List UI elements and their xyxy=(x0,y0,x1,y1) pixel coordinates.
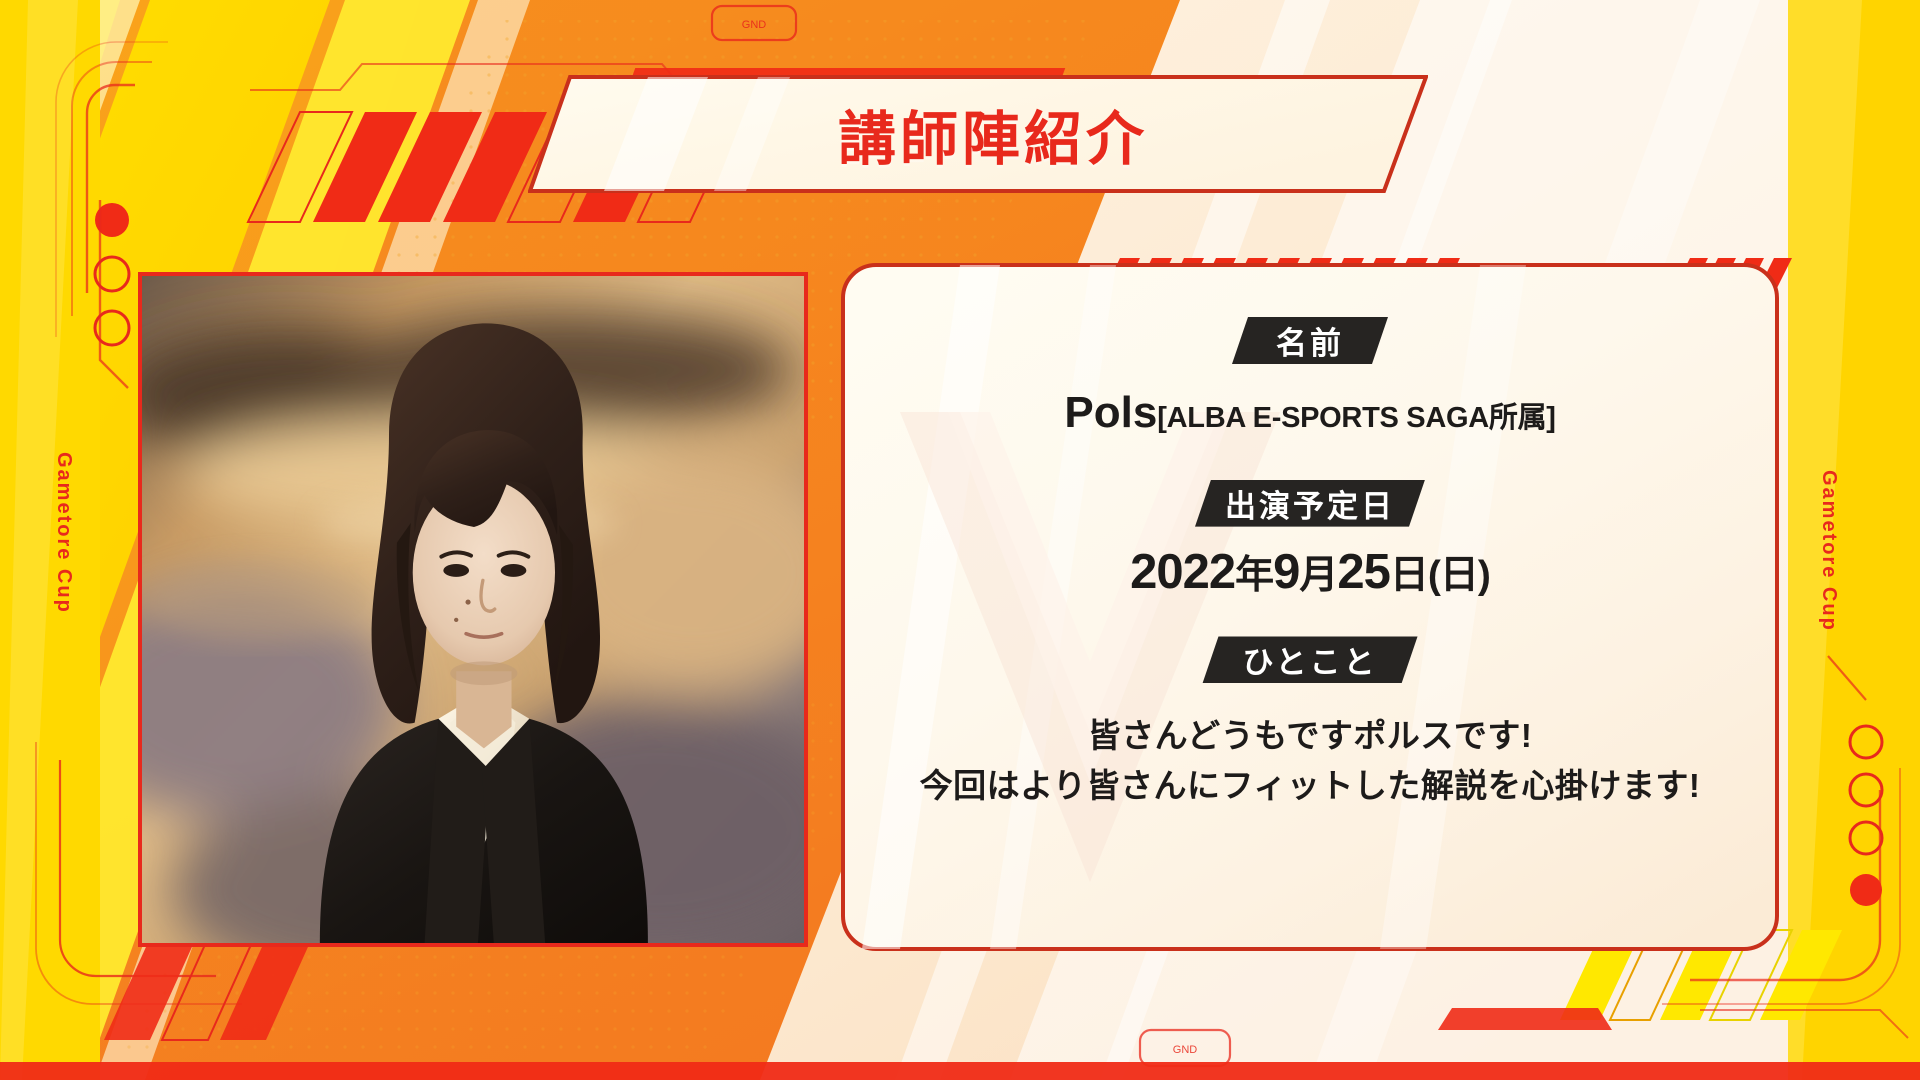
svg-text:GND: GND xyxy=(1173,1044,1198,1056)
date-month: 9 xyxy=(1273,545,1299,599)
name-badge-label: 名前 xyxy=(1276,318,1344,363)
svg-text:GND: GND xyxy=(742,19,767,31)
date-badge: 出演予定日 xyxy=(1195,480,1425,527)
poster-stage: GND GND xyxy=(0,0,1920,1080)
date-day-unit: 日 xyxy=(1390,554,1428,597)
date-year: 2022 xyxy=(1130,545,1235,599)
brand-text-left: Gametore Cup xyxy=(52,452,75,614)
date-value: 2022年9月25日(日) xyxy=(1130,543,1490,603)
date-year-unit: 年 xyxy=(1235,554,1273,597)
brand-text-right: Gametore Cup xyxy=(1817,470,1840,632)
instructor-info-panel: 名前 Pols[ALBA E-SPORTS SAGA所属] 出演予定日 2022… xyxy=(840,262,1780,952)
name-affiliation: [ALBA E-SPORTS SAGA所属] xyxy=(1157,402,1555,434)
comment-line-1: 皆さんどうもですポルスです! xyxy=(920,711,1701,761)
name-value: Pols[ALBA E-SPORTS SAGA所属] xyxy=(1064,386,1555,440)
date-month-unit: 月 xyxy=(1299,554,1337,597)
date-day: 25 xyxy=(1337,545,1390,599)
info-content: 名前 Pols[ALBA E-SPORTS SAGA所属] 出演予定日 2022… xyxy=(840,262,1780,952)
name-badge: 名前 xyxy=(1232,317,1388,364)
title-banner: 講師陣紹介 xyxy=(528,75,1428,193)
comment-line-2: 今回はより皆さんにフィットした解説を心掛けます! xyxy=(920,761,1701,811)
comment-value: 皆さんどうもですポルスです! 今回はより皆さんにフィットした解説を心掛けます! xyxy=(920,711,1701,810)
comment-badge: ひとこと xyxy=(1202,636,1417,683)
instructor-photo xyxy=(142,276,804,943)
photo-frame xyxy=(138,272,808,947)
page-title: 講師陣紹介 xyxy=(528,75,1428,193)
instructor-photo-panel xyxy=(138,272,808,947)
name-main: Pols xyxy=(1064,388,1157,437)
comment-badge-label: ひとこと xyxy=(1242,637,1377,682)
date-badge-label: 出演予定日 xyxy=(1225,481,1395,526)
date-weekday: (日) xyxy=(1428,554,1490,597)
